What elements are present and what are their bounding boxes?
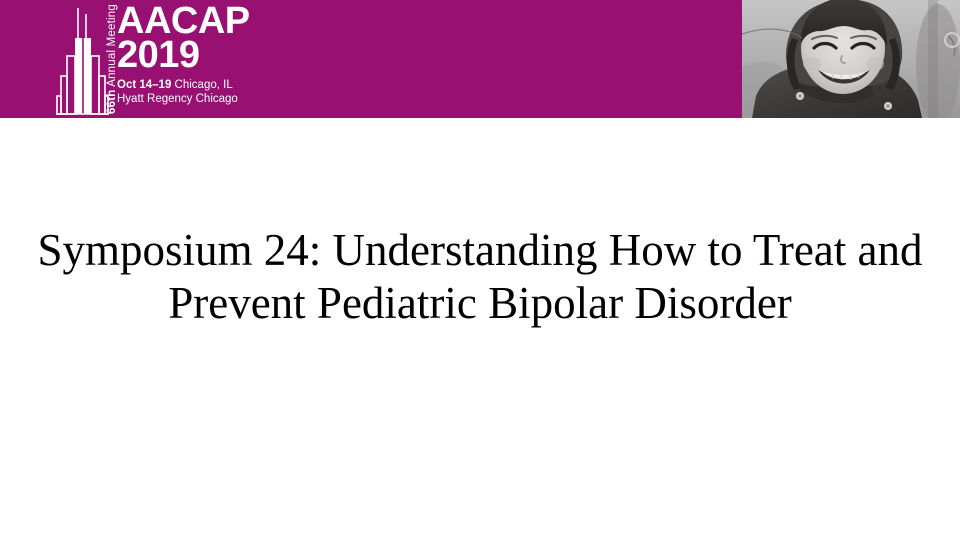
slide-title: Symposium 24: Understanding How to Treat… xyxy=(30,224,930,330)
header-banner: 66th Annual Meeting AACAP 2019 Oct 14–19… xyxy=(0,0,960,118)
presentation-slide: 66th Annual Meeting AACAP 2019 Oct 14–19… xyxy=(0,0,960,540)
willis-tower-icon xyxy=(55,4,111,116)
child-photo-illustration xyxy=(742,0,960,118)
meeting-city: Chicago, IL xyxy=(171,79,232,91)
smiling-child-photo xyxy=(742,0,960,118)
meeting-dates-line: Oct 14–19 Chicago, IL xyxy=(117,78,387,92)
meeting-details: Oct 14–19 Chicago, IL Hyatt Regency Chic… xyxy=(117,78,387,107)
meeting-year: 2019 xyxy=(117,38,387,73)
meeting-venue: Hyatt Regency Chicago xyxy=(117,92,387,106)
meeting-dates: Oct 14–19 xyxy=(117,79,171,91)
aacap-wordmark-block: AACAP 2019 Oct 14–19 Chicago, IL Hyatt R… xyxy=(117,2,387,107)
aacap-logo-lockup: 66th Annual Meeting AACAP 2019 Oct 14–19… xyxy=(55,2,385,116)
